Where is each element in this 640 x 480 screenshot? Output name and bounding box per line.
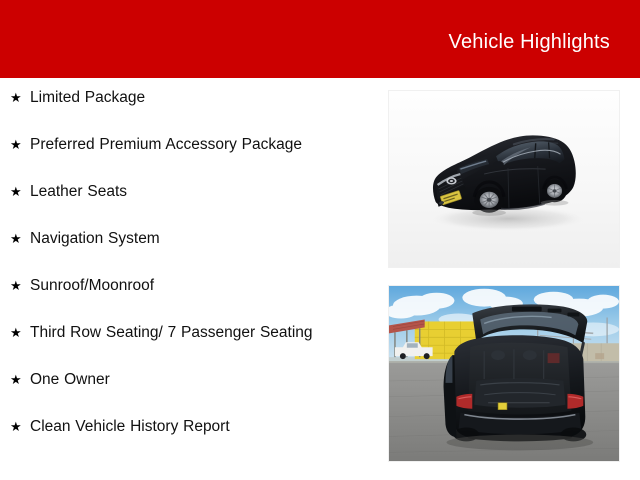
content-area: ★ Limited Package ★ Preferred Premium Ac…: [0, 78, 640, 480]
star-icon: ★: [10, 373, 22, 387]
page-title: Vehicle Highlights: [449, 30, 610, 54]
highlight-label: Sunroof/Moonroof: [30, 266, 154, 296]
list-item: ★ One Owner: [0, 360, 380, 407]
vehicle-highlights-list: ★ Limited Package ★ Preferred Premium Ac…: [0, 78, 380, 454]
star-icon: ★: [10, 185, 22, 199]
star-icon: ★: [10, 91, 22, 105]
star-icon: ★: [10, 232, 22, 246]
star-icon: ★: [10, 279, 22, 293]
vehicle-exterior-front-three-quarter-icon: [389, 91, 619, 267]
list-item: ★ Sunroof/Moonroof: [0, 266, 380, 313]
list-item: ★ Navigation System: [0, 219, 380, 266]
list-item: ★ Clean Vehicle History Report: [0, 407, 380, 454]
header-banner: Vehicle Highlights: [0, 0, 640, 78]
highlight-label: Third Row Seating/ 7 Passenger Seating: [30, 313, 313, 343]
list-item: ★ Limited Package: [0, 78, 380, 125]
vehicle-photo-exterior[interactable]: [388, 90, 620, 268]
highlight-label: Limited Package: [30, 78, 145, 108]
vehicle-rear-cargo-liftgate-open-icon: [389, 286, 619, 461]
highlight-label: Navigation System: [30, 219, 160, 249]
highlight-label: Preferred Premium Accessory Package: [30, 125, 302, 155]
list-item: ★ Leather Seats: [0, 172, 380, 219]
star-icon: ★: [10, 420, 22, 434]
highlight-label: One Owner: [30, 360, 110, 390]
vehicle-photo-cargo[interactable]: [388, 285, 620, 462]
list-item: ★ Preferred Premium Accessory Package: [0, 125, 380, 172]
highlight-label: Leather Seats: [30, 172, 127, 202]
highlight-label: Clean Vehicle History Report: [30, 407, 230, 437]
list-item: ★ Third Row Seating/ 7 Passenger Seating: [0, 313, 380, 360]
star-icon: ★: [10, 138, 22, 152]
star-icon: ★: [10, 326, 22, 340]
